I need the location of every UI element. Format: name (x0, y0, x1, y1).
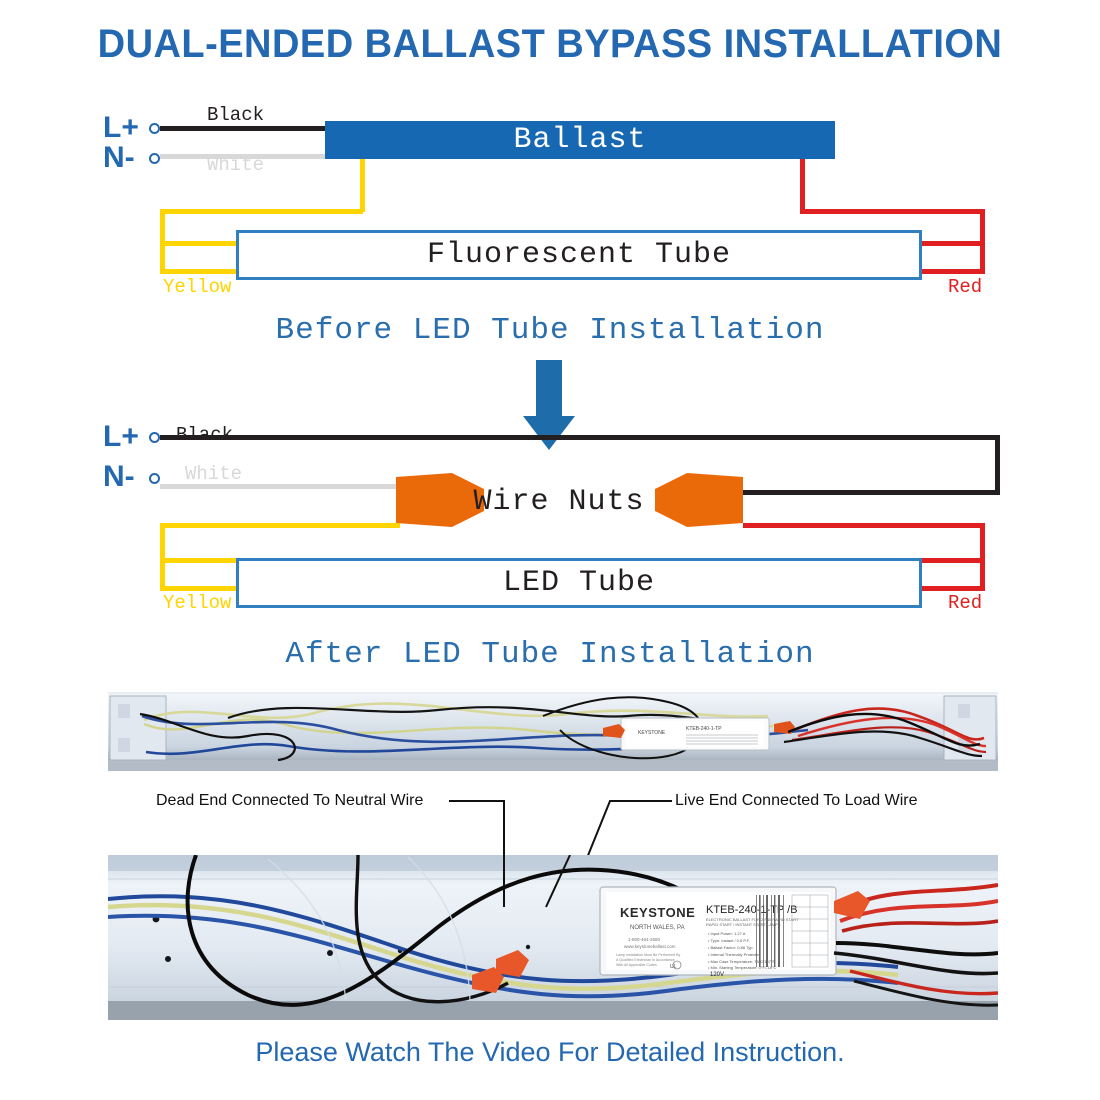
svg-text:www.keystoneballast.com: www.keystoneballast.com (624, 944, 676, 949)
svg-text:KEYSTONE: KEYSTONE (620, 905, 695, 920)
footer-caption: Please Watch The Video For Detailed Inst… (0, 1037, 1100, 1068)
photo-fixture-closeup: KEYSTONE NORTH WALES, PA 1-800-464-2680 … (108, 855, 998, 1020)
svg-text:• Type: Instant / 0.6 P.F.: • Type: Instant / 0.6 P.F. (708, 938, 750, 943)
svg-text:RAPID START / INSTANT START LA: RAPID START / INSTANT START LAMPS (706, 922, 781, 927)
svg-text:• Input Power: 1.27 A: • Input Power: 1.27 A (708, 931, 746, 936)
svg-text:With All Applicable Codes: With All Applicable Codes (616, 963, 657, 967)
svg-text:UL: UL (670, 964, 677, 970)
svg-text:Lamp Installation Must Be Perf: Lamp Installation Must Be Performed By (616, 953, 681, 957)
svg-text:NORTH WALES, PA: NORTH WALES, PA (630, 925, 685, 931)
svg-text:• Ballast Factor: 0.88 Typ.: • Ballast Factor: 0.88 Typ. (708, 945, 754, 950)
svg-text:• Max Case Temperature: 75°C/1: • Max Case Temperature: 75°C/167°F (708, 959, 776, 964)
svg-text:• Internal Thermally Protected: • Internal Thermally Protected (708, 952, 761, 957)
svg-text:1-800-464-2680: 1-800-464-2680 (628, 937, 661, 942)
svg-text:120V: 120V (710, 972, 724, 978)
svg-text:A Qualified Electrician In Acc: A Qualified Electrician In Accordance (616, 958, 675, 962)
